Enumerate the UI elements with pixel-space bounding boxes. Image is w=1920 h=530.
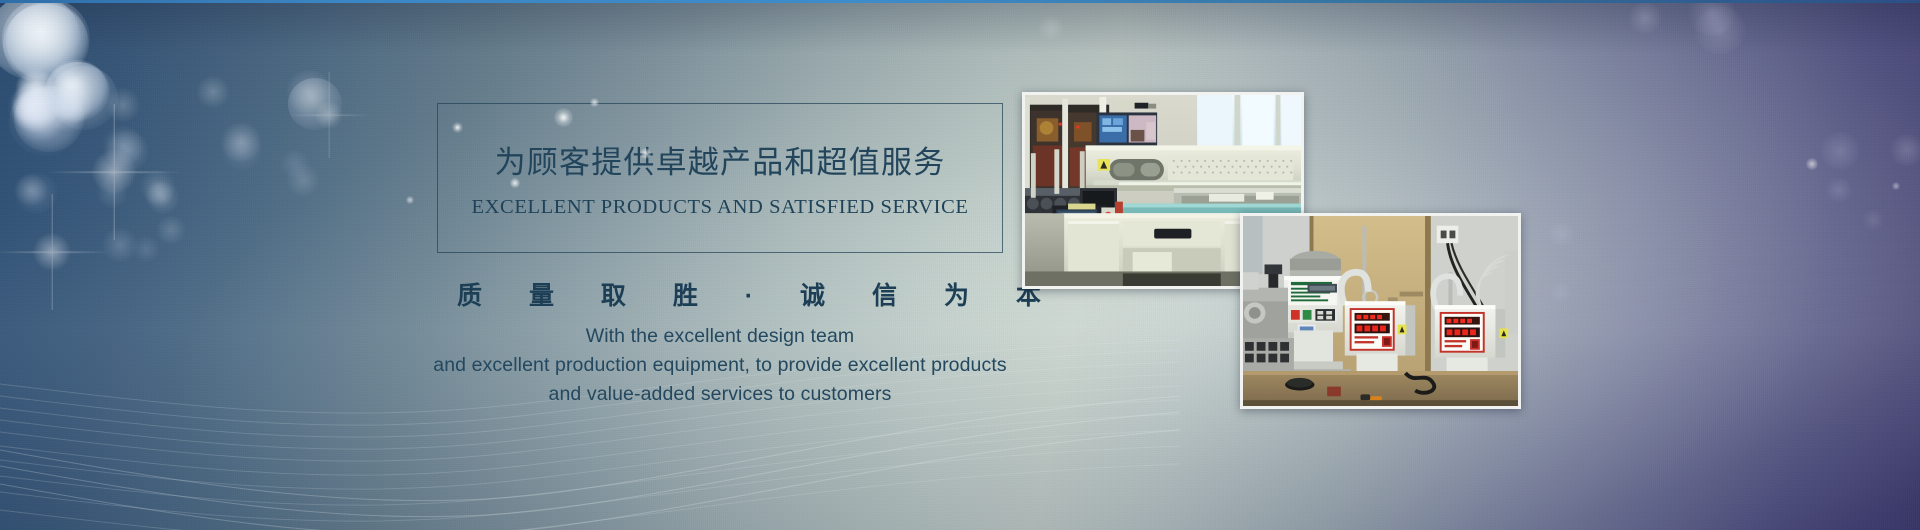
headline-english: EXCELLENT PRODUCTS AND SATISFIED SERVICE — [472, 196, 969, 219]
hero-banner: 为顾客提供卓越产品和超值服务 EXCELLENT PRODUCTS AND SA… — [0, 0, 1920, 530]
slogan-chinese: 质 量 取 胜 · 诚 信 为 本 — [437, 276, 1003, 312]
paragraph-line-1: With the excellent design team — [310, 322, 1130, 351]
paragraph-line-2: and excellent production equipment, to p… — [310, 351, 1130, 380]
top-accent-rule — [0, 0, 1920, 3]
photo-press-machines — [1240, 213, 1521, 409]
film-grain-overlay — [0, 0, 1920, 530]
paragraph-line-3: and value-added services to customers — [310, 380, 1130, 409]
headline-frame: 为顾客提供卓越产品和超值服务 EXCELLENT PRODUCTS AND SA… — [437, 103, 1003, 253]
headline-chinese: 为顾客提供卓越产品和超值服务 — [495, 137, 946, 182]
description-paragraph: With the excellent design team and excel… — [310, 322, 1130, 409]
